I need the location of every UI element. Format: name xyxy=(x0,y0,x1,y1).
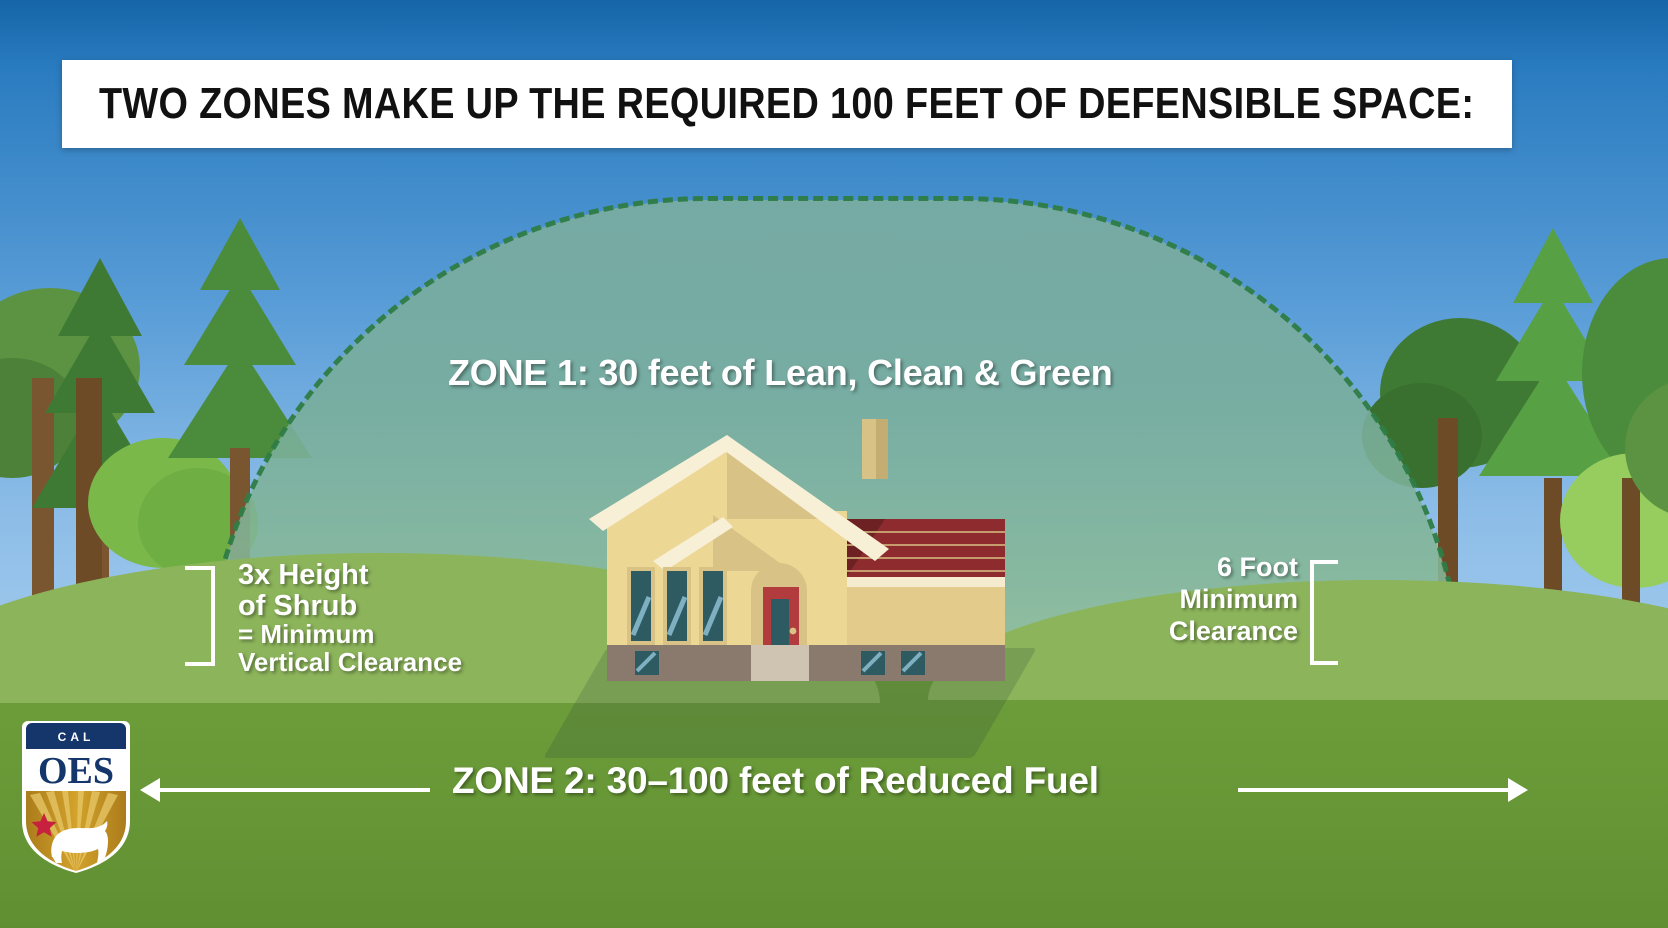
left-annotation-line1: 3x Height xyxy=(238,560,488,591)
right-annotation-line1: 6 Foot xyxy=(1169,552,1298,584)
zone2-label: ZONE 2: 30–100 feet of Reduced Fuel xyxy=(452,760,1099,802)
right-annotation-line2: Minimum xyxy=(1169,584,1298,616)
left-annotation-line3: = Minimum xyxy=(238,621,488,649)
defensible-space-infographic: TWO ZONES MAKE UP THE REQUIRED 100 FEET … xyxy=(0,0,1668,928)
arrow-left-icon xyxy=(140,778,160,802)
chimney-shade xyxy=(876,419,888,479)
house-illustration xyxy=(545,419,1005,681)
left-vertical-clearance-bracket xyxy=(185,566,215,666)
window-group-front xyxy=(627,567,727,645)
right-annotation: 6 Foot Minimum Clearance xyxy=(1169,552,1298,648)
door-panel xyxy=(771,599,789,647)
zone1-label: ZONE 1: 30 feet of Lean, Clean & Green xyxy=(448,352,1113,394)
title-banner: TWO ZONES MAKE UP THE REQUIRED 100 FEET … xyxy=(62,60,1512,148)
logo-cal-text: CAL xyxy=(58,730,95,744)
logo-oes-text: OES xyxy=(38,750,114,792)
page-title: TWO ZONES MAKE UP THE REQUIRED 100 FEET … xyxy=(99,79,1474,129)
left-annotation-line2: of Shrub xyxy=(238,591,488,622)
door-knob xyxy=(790,628,797,635)
steps xyxy=(751,645,809,681)
right-annotation-line3: Clearance xyxy=(1169,616,1298,648)
right-clearance-bracket xyxy=(1310,560,1338,665)
left-annotation: 3x Height of Shrub = Minimum Vertical Cl… xyxy=(238,560,488,677)
arrow-right-line xyxy=(1238,788,1510,792)
arrow-right-icon xyxy=(1508,778,1528,802)
left-annotation-line4: Vertical Clearance xyxy=(238,649,488,677)
arrow-left-line xyxy=(158,788,430,792)
cal-oes-logo[interactable]: CAL OES xyxy=(22,721,130,873)
